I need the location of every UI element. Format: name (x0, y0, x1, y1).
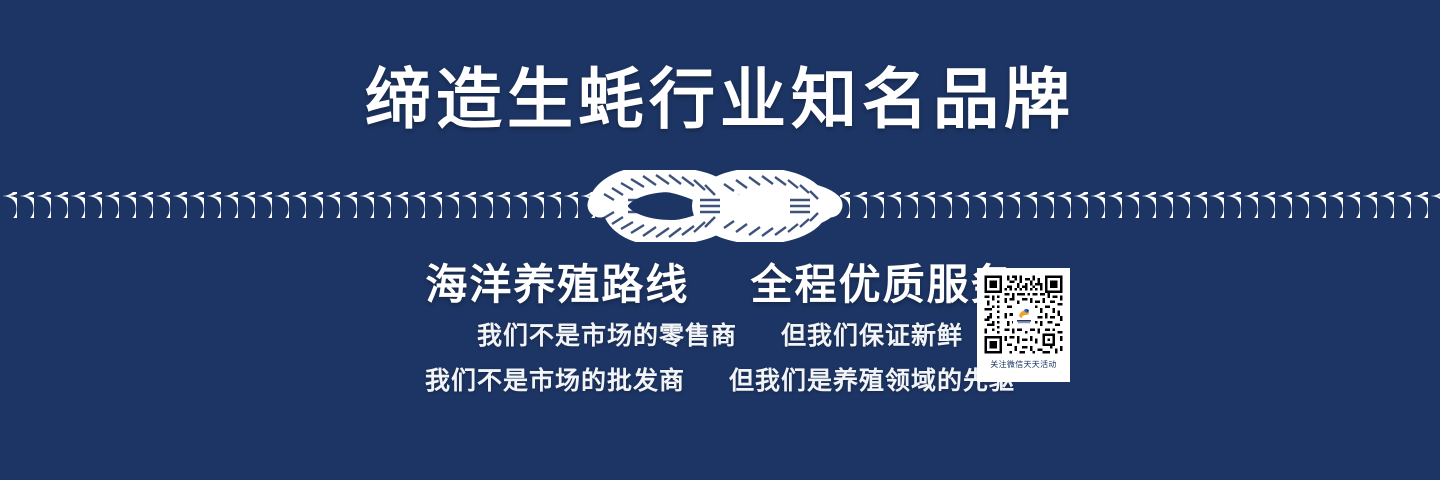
subtitle-right: 全程优质服务 (751, 261, 1015, 308)
tagline-1-right: 但我们保证新鲜 (781, 322, 963, 350)
subtitle: 海洋养殖路线 全程优质服务 (0, 263, 1440, 307)
brand-logo-icon (1013, 304, 1035, 326)
tagline-row-1: 我们不是市场的零售商 但我们保证新鲜 (0, 324, 1440, 349)
subtitle-left: 海洋养殖路线 (425, 261, 689, 308)
tagline-1-left: 我们不是市场的零售商 (477, 322, 737, 350)
nautical-rope-knot-icon (0, 170, 1440, 242)
qr-code-image[interactable] (982, 273, 1065, 356)
tagline-2-right: 但我们是养殖领域的先驱 (729, 367, 1015, 395)
rope-divider (0, 170, 1440, 242)
tagline-2-left: 我们不是市场的批发商 (425, 367, 685, 395)
page-title: 缔造生蚝行业知名品牌 (0, 66, 1440, 132)
tagline-row-2: 我们不是市场的批发商 但我们是养殖领域的先驱 (0, 369, 1440, 394)
qr-caption: 关注微信天天活动 (990, 358, 1056, 372)
qr-code-card[interactable]: 关注微信天天活动 (977, 268, 1070, 382)
logo-mark (1013, 304, 1035, 326)
promotional-banner: 缔造生蚝行业知名品牌 (0, 0, 1440, 480)
